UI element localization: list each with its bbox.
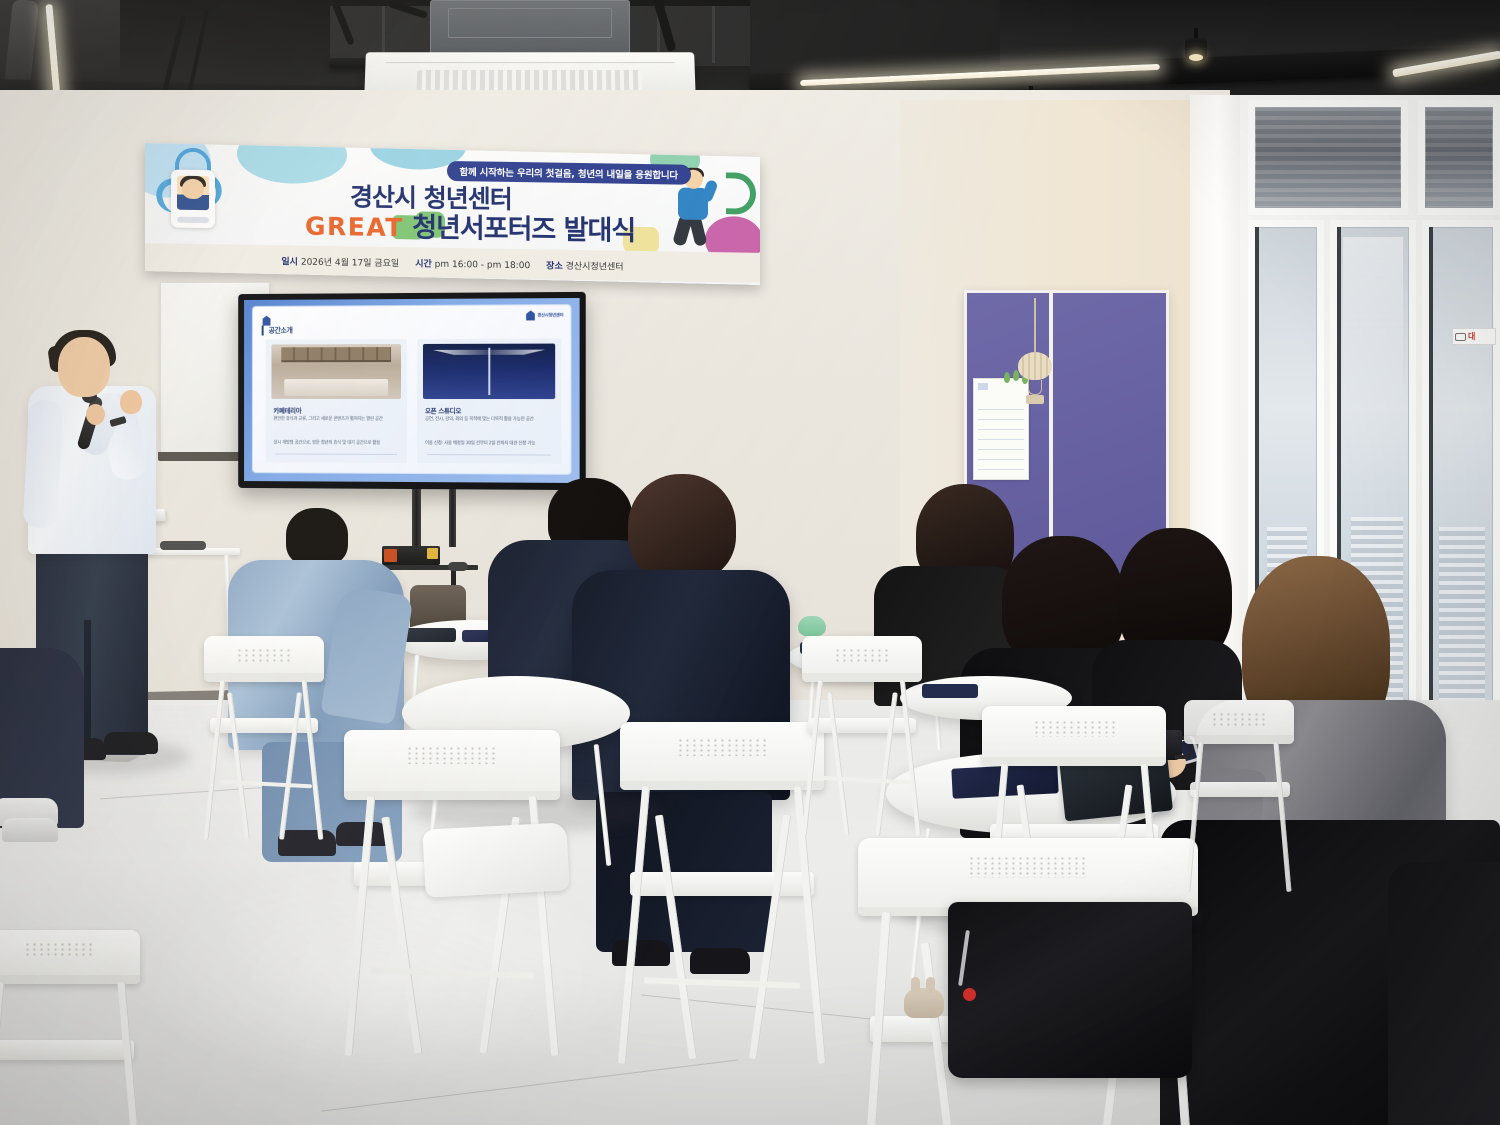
folding-chair-left-1[interactable] [204, 636, 324, 806]
slide-logo-text: 경산시청년센터 [537, 312, 563, 318]
slide-title: 공간소개 [262, 326, 293, 336]
backpack[interactable] [948, 902, 1192, 1078]
projector [430, 0, 630, 58]
banner-date-label: 일시 [281, 257, 298, 267]
banner-great-word: GREAT [305, 212, 404, 243]
event-banner: 함께 시작하는 우리의 첫걸음, 청년의 내일을 응원합니다 경산시 청년센터 … [145, 143, 760, 285]
banner-place-value: 경산시청년센터 [566, 261, 624, 272]
banner-time-label: 시간 [415, 259, 432, 269]
slide-column-open-studio: 오픈 스튜디오 공연, 전시, 강의, 회의 등 목적에 맞는 다목적 활용 가… [417, 338, 561, 463]
green-item-right-back [798, 616, 826, 636]
leaf-decoration-1 [1004, 372, 1010, 383]
banner-date-value: 2026년 4월 17일 금요일 [301, 257, 399, 269]
cafeteria-para1: 편안한 휴식과 교류, 그리고 새로운 콘텐츠가 펼쳐지는 열린 공간 [273, 416, 399, 424]
banner-place-label: 장소 [546, 261, 563, 271]
folding-chair-far-right[interactable] [1184, 700, 1304, 860]
transom-window-right [1418, 100, 1500, 215]
track-light-11 [1185, 28, 1207, 62]
side-table-items [160, 541, 206, 550]
photo-scene: 함께 시작하는 우리의 첫걸음, 청년의 내일을 응원합니다 경산시 청년센터 … [0, 0, 1500, 1125]
presentation-display: 경산시청년센터 공간소개 카페테리아 편안한 휴식과 교류, 그리고 새로운 콘… [238, 292, 586, 490]
folding-chair-right-back[interactable] [802, 636, 922, 806]
open-studio-para1: 공연, 전시, 강의, 회의 등 목적에 맞는 다목적 활용 가능한 공간 [425, 416, 553, 424]
attendee-8-jacket [1388, 862, 1500, 1125]
notice-sheet [973, 378, 1029, 480]
plush-bunny-keychain[interactable] [904, 988, 944, 1018]
banner-time-value: pm 16:00 - pm 18:00 [435, 259, 531, 271]
av-remote [448, 562, 468, 571]
presenter-arm-left [23, 399, 64, 529]
white-tote-bag[interactable] [422, 822, 569, 897]
cafeteria-para2: 상시 개방형 공간으로, 방문 청년의 휴식 및 대기 공간으로 활용 [273, 440, 399, 448]
display-stand-pole-right [449, 489, 456, 547]
av-mixer [382, 546, 440, 565]
attendee-1-shoe [278, 830, 336, 856]
banner-badge-illustration [171, 170, 215, 229]
exit-sign: 대 [1452, 328, 1496, 345]
cafeteria-photo [271, 344, 401, 399]
slide-logo-mark [526, 310, 535, 320]
balloon-string [1034, 298, 1036, 354]
presenter-shoe-right [104, 732, 158, 754]
exit-sign-text: 대 [1468, 331, 1475, 342]
cafeteria-heading: 카페테리아 [273, 405, 301, 415]
open-studio-photo [423, 344, 555, 400]
presenter-head [58, 337, 110, 397]
banner-line2-rest: 청년서포터즈 발대식 [412, 212, 635, 247]
transom-window-left [1248, 100, 1408, 215]
red-apple-charm [963, 988, 976, 1001]
tablet-back-table[interactable] [404, 628, 456, 642]
balloon-basket [1026, 395, 1044, 404]
attendee-3-hair [628, 474, 736, 582]
open-studio-heading: 오픈 스튜디오 [425, 405, 461, 415]
open-studio-para2: 이용 신청: 사용 예정일 30일 전부터 2일 전까지 대관 신청 가능 [425, 440, 553, 448]
attendee-front-left-shoe-2 [2, 818, 58, 842]
folding-chair-front-center[interactable] [620, 722, 824, 1022]
balloon-basket-rope [1028, 380, 1042, 395]
navy-folder-right-mid[interactable] [922, 684, 978, 698]
slide-column-cafeteria: 카페테리아 편안한 휴식과 교류, 그리고 새로운 콘텐츠가 펼쳐지는 열린 공… [266, 339, 407, 463]
exit-door-icon [1455, 333, 1466, 341]
folding-chair-bottom-left[interactable] [0, 930, 140, 1120]
slide: 경산시청년센터 공간소개 카페테리아 편안한 휴식과 교류, 그리고 새로운 콘… [253, 305, 571, 474]
presenter-hand-mic [86, 404, 105, 425]
banner-line2: GREAT 청년서포터즈 발대식 [305, 204, 635, 248]
slide-logo: 경산시청년센터 [526, 310, 563, 320]
slide-corner-icon [261, 312, 273, 324]
hot-air-balloon-decoration [1018, 352, 1052, 380]
presenter-hand-gesture [120, 390, 142, 414]
banner-swirl-decoration [726, 172, 756, 214]
